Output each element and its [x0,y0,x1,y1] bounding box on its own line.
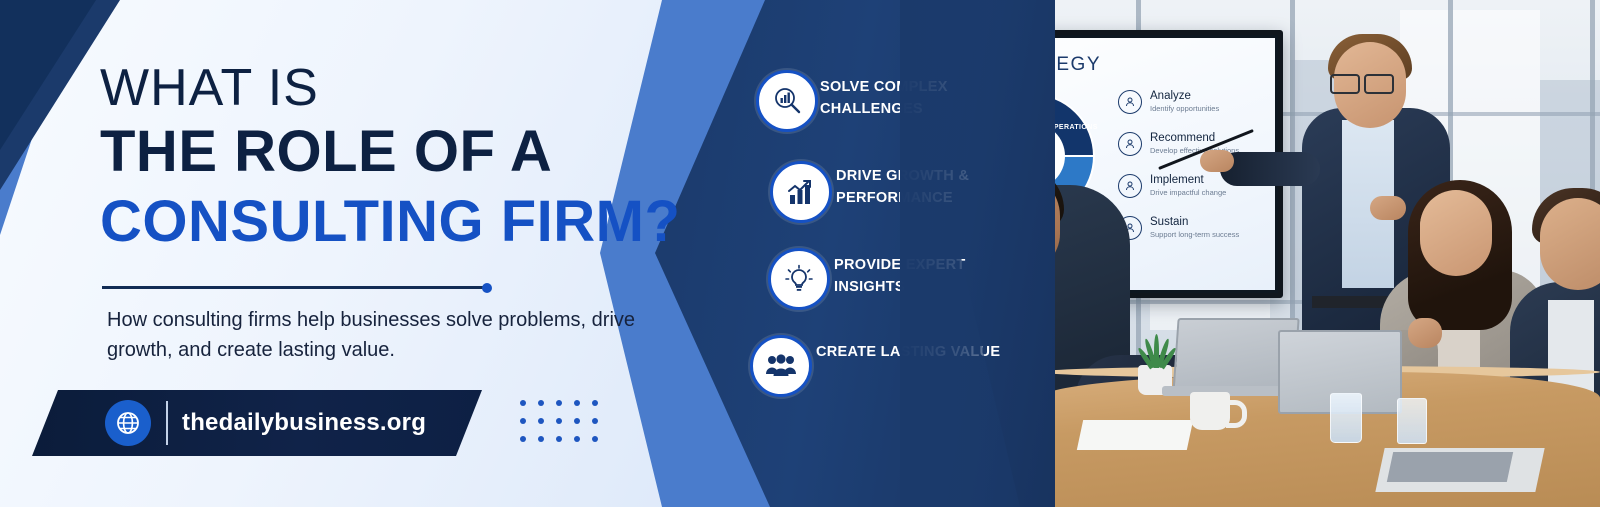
page-title: WHAT IS THE ROLE OF A CONSULTING FIRM? [100,62,740,257]
slide-step: Sustain Support long-term success [1118,216,1268,252]
magnifier-chart-icon [756,70,818,132]
badge-divider [166,401,168,445]
website-url[interactable]: thedailybusiness.org [182,409,426,437]
slide-step-title: Implement [1150,174,1204,186]
slide-step-title: Sustain [1150,216,1188,228]
divider-dot [482,283,492,293]
eyeglasses [1330,74,1396,90]
globe-icon [105,400,151,446]
subtitle-text: How consulting firms help businesses sol… [107,305,647,365]
title-divider [102,283,492,292]
growth-chart-arrow-icon [770,161,832,223]
paper-document [1387,452,1513,482]
headline-line-1: WHAT IS [100,62,740,114]
coffee-mug [1190,392,1230,430]
paper-document [1077,420,1193,450]
promo-banner: STRATEGY [0,0,1600,507]
water-glass [1330,393,1362,443]
decorative-dot-grid [520,400,610,454]
lightbulb-icon [768,248,830,310]
slide-step-title: Analyze [1150,90,1191,102]
person-gear-icon [1118,174,1142,198]
slide-step-subtitle: Identify opportunities [1150,104,1219,113]
slide-step-subtitle: Support long-term success [1150,230,1239,239]
slide-step-subtitle: Drive impactful change [1150,188,1226,197]
slide-step-title: Recommend [1150,132,1215,144]
people-group-icon [750,335,812,397]
donut-label-operations: OPERATIONS [1048,124,1098,131]
person-search-icon [1118,90,1142,114]
slide-step: Analyze Identify opportunities [1118,90,1268,126]
coffee-mug-handle [1226,400,1247,428]
headline-line-3: CONSULTING FIRM? [100,188,740,256]
person-idea-icon [1118,132,1142,156]
water-glass [1397,398,1427,444]
headline-line-2: THE ROLE OF A [100,118,740,186]
